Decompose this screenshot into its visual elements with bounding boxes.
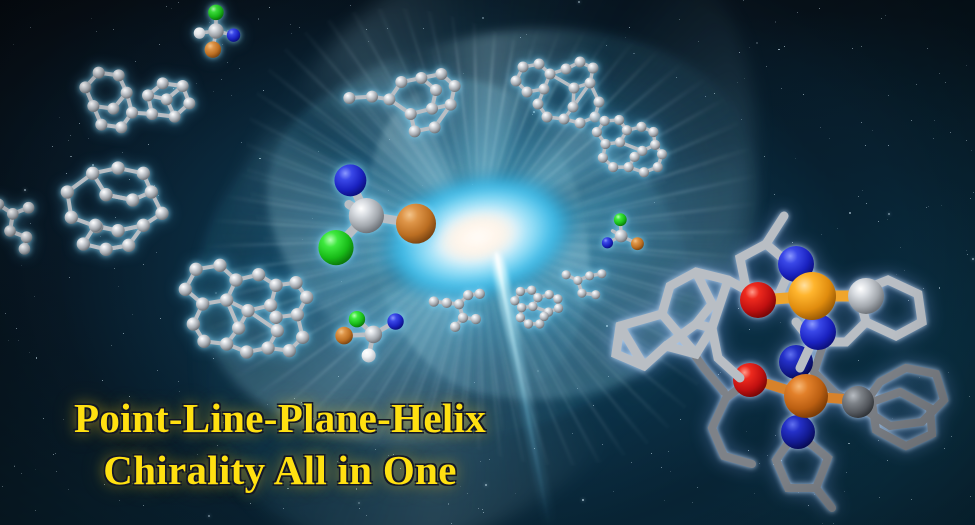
atom-bromine	[205, 41, 222, 58]
atom-nitrogen-upper-b	[800, 314, 836, 350]
atom-carbon-group	[79, 67, 195, 134]
atom-chlorine	[208, 5, 224, 21]
atom-nitrogen	[227, 28, 240, 41]
atom-bromine	[396, 204, 436, 244]
molecule-axial-chirality-biaryl-small	[428, 284, 494, 336]
atom-carbon-lower-donor	[842, 386, 874, 418]
atom-nitrogen-lower-b	[781, 415, 815, 449]
molecule-point-chirality-stereocenter-lower	[330, 304, 412, 366]
molecule-point-chirality-stereocenter	[186, 2, 248, 60]
cover-artwork: Point-Line-Plane-Helix Chirality All in …	[0, 0, 975, 525]
atom-nitrogen	[334, 164, 366, 196]
metal-center-upper	[788, 272, 836, 320]
atom-carbon-group	[179, 259, 314, 359]
atom-carbon	[208, 23, 224, 39]
atom-hydrogen	[362, 348, 376, 362]
atom-carbon-group	[429, 289, 485, 332]
atom-hydrogen	[194, 27, 205, 38]
atom-carbon-upper-donor	[848, 278, 884, 314]
dinuclear-chiral-metal-complex	[600, 196, 970, 521]
atom-chlorine	[349, 311, 365, 327]
molecule-axial-chirality-biaryl-center	[340, 58, 476, 146]
metal-center-upper-half	[616, 216, 922, 378]
atom-bromine	[335, 327, 353, 345]
molecule-fragment-left-edge	[0, 194, 56, 254]
atom-chlorine	[318, 230, 353, 265]
atom-carbon-group	[510, 285, 563, 328]
atom-carbon	[349, 198, 384, 233]
molecule-axial-chirality-biaryl	[68, 62, 208, 152]
atom-carbon-group	[61, 161, 169, 256]
atom-carbon-group	[343, 68, 460, 137]
molecule-point-chirality-stereocenter-main	[296, 158, 456, 278]
atom-nitrogen	[387, 313, 403, 329]
molecule-helical-chirality-helicene	[164, 248, 314, 366]
atom-carbon	[365, 326, 383, 344]
molecule-helical-chirality-helicene-right	[584, 106, 680, 188]
metal-center-lower	[784, 374, 828, 418]
atom-oxygen-upper	[740, 282, 776, 318]
